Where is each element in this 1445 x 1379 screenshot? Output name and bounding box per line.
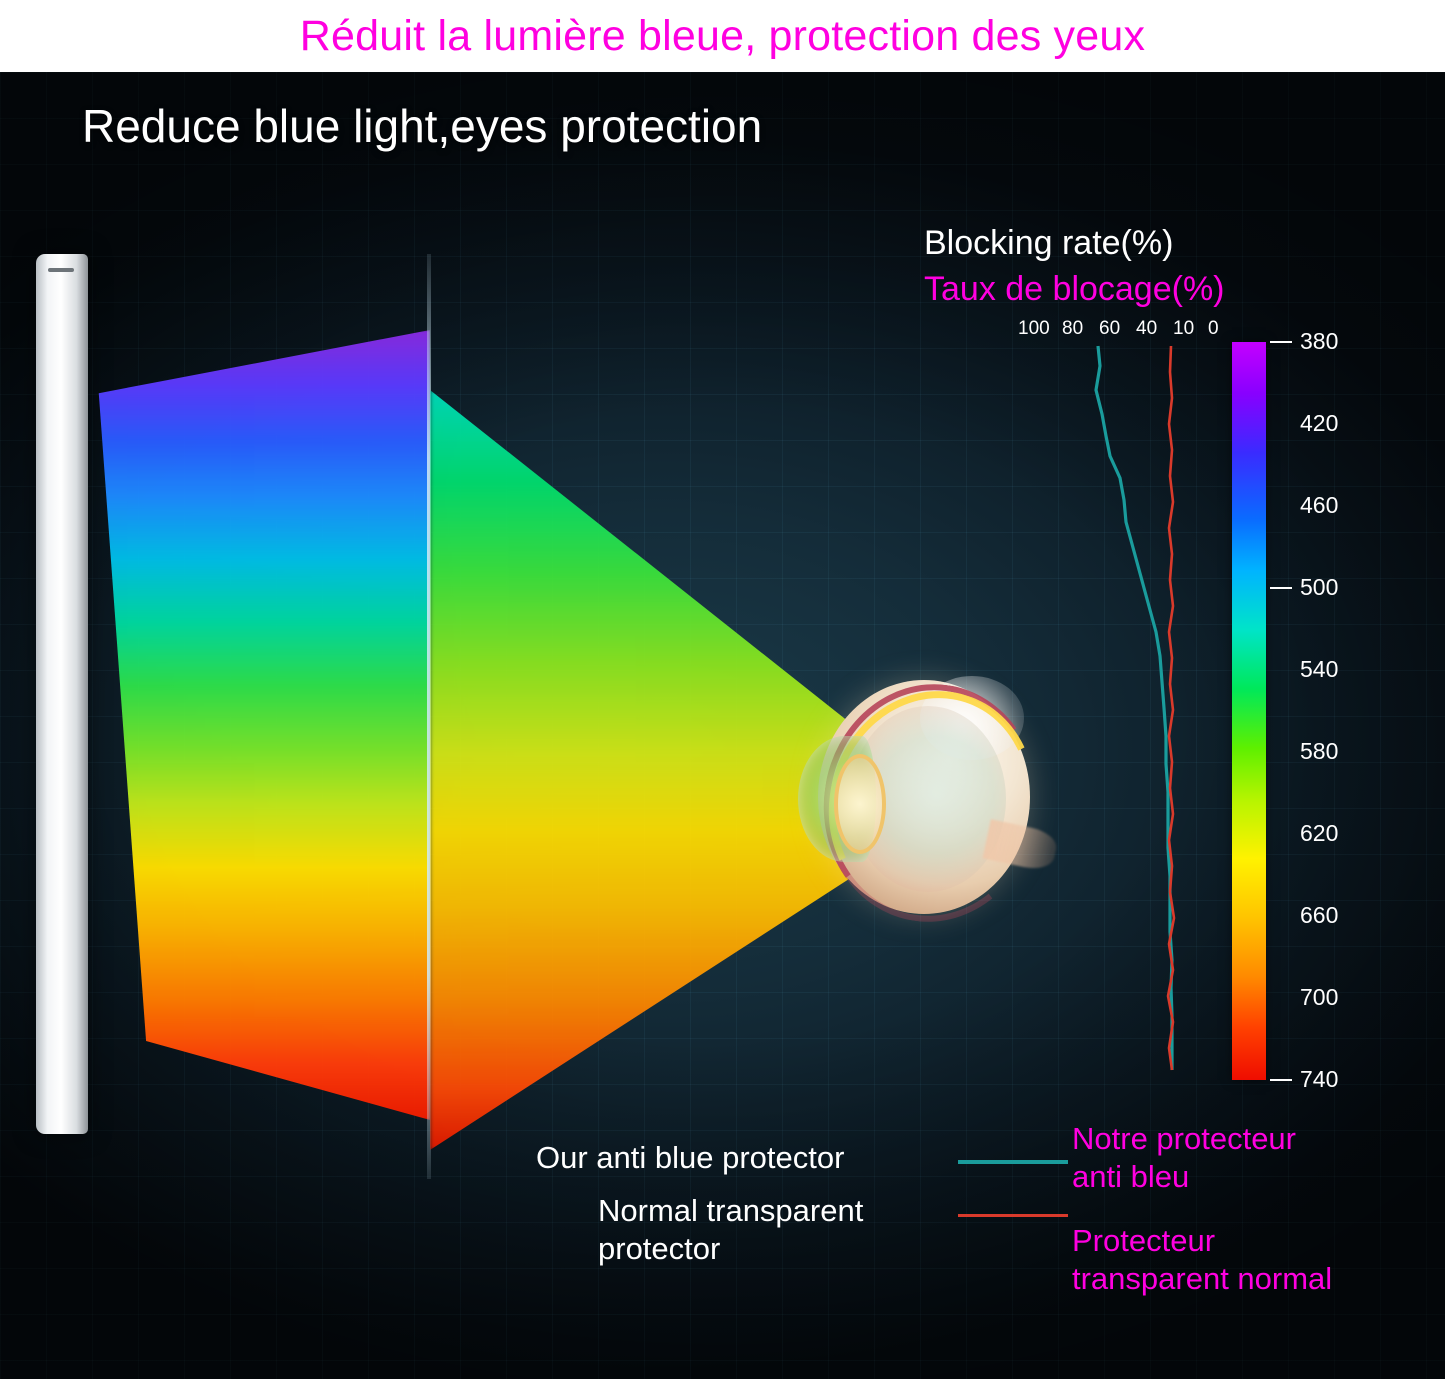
legend-normal-french: Protecteur transparent normal xyxy=(1072,1222,1332,1298)
wl-dash-620 xyxy=(1270,833,1292,835)
legend-ours-french-line2: anti bleu xyxy=(1072,1158,1296,1196)
legend-normal-english: Normal transparent protector xyxy=(598,1192,863,1268)
tick-40: 40 xyxy=(1136,318,1157,340)
tick-10: 10 xyxy=(1173,318,1194,340)
plot-svg xyxy=(1020,344,1220,1074)
tick-80: 80 xyxy=(1062,318,1083,340)
legend-swatch-ours xyxy=(958,1160,1068,1164)
wl-label-740: 740 xyxy=(1300,1066,1338,1093)
blocking-rate-plot xyxy=(1020,344,1220,1074)
tick-60: 60 xyxy=(1099,318,1120,340)
infographic-page: Réduit la lumière bleue, protection des … xyxy=(0,0,1445,1379)
headline-english: Reduce blue light,eyes protection xyxy=(82,99,762,153)
tick-100: 100 xyxy=(1018,318,1050,340)
legend-ours-english: Our anti blue protector xyxy=(536,1140,844,1176)
wavelength-axis: 380 420 460 500 540 580 620 660 700 740 xyxy=(1270,328,1390,1108)
tick-0: 0 xyxy=(1208,318,1219,340)
wl-dash-660 xyxy=(1270,915,1292,917)
wl-label-620: 620 xyxy=(1300,820,1338,847)
wl-dash-380 xyxy=(1270,341,1292,343)
legend-normal-english-line2: protector xyxy=(598,1230,863,1268)
legend-normal-french-line1: Protecteur xyxy=(1072,1222,1332,1260)
illustration-panel: Reduce blue light,eyes protection Blocki… xyxy=(0,72,1445,1379)
wl-dash-580 xyxy=(1270,751,1292,753)
blocking-rate-ticks: 100 80 60 40 10 0 xyxy=(1018,318,1218,342)
wl-label-460: 460 xyxy=(1300,492,1338,519)
legend-swatch-normal xyxy=(958,1214,1068,1217)
legend-ours-french: Notre protecteur anti bleu xyxy=(1072,1120,1296,1196)
eye-illustration xyxy=(790,670,1038,932)
wl-dash-420 xyxy=(1270,423,1292,425)
wl-label-540: 540 xyxy=(1300,656,1338,683)
series-our-anti-blue xyxy=(1096,346,1172,1070)
wl-label-380: 380 xyxy=(1300,328,1338,355)
wl-label-500: 500 xyxy=(1300,574,1338,601)
wl-label-660: 660 xyxy=(1300,902,1338,929)
wl-dash-540 xyxy=(1270,669,1292,671)
wl-dash-460 xyxy=(1270,505,1292,507)
phone-device xyxy=(36,254,88,1134)
legend-ours-french-line1: Notre protecteur xyxy=(1072,1120,1296,1158)
wl-dash-740 xyxy=(1270,1079,1292,1081)
chart-title-french: Taux de blocage(%) xyxy=(924,270,1225,309)
chart-title-english: Blocking rate(%) xyxy=(924,224,1173,263)
eye-lens xyxy=(834,754,886,854)
spectrum-colorbar xyxy=(1232,342,1266,1080)
wl-label-700: 700 xyxy=(1300,984,1338,1011)
wl-dash-500 xyxy=(1270,587,1292,589)
wl-dash-700 xyxy=(1270,997,1292,999)
wl-label-580: 580 xyxy=(1300,738,1338,765)
wl-label-420: 420 xyxy=(1300,410,1338,437)
legend-normal-french-line2: transparent normal xyxy=(1072,1260,1332,1298)
headline-french: Réduit la lumière bleue, protection des … xyxy=(0,0,1445,72)
legend-normal-english-line1: Normal transparent xyxy=(598,1192,863,1230)
